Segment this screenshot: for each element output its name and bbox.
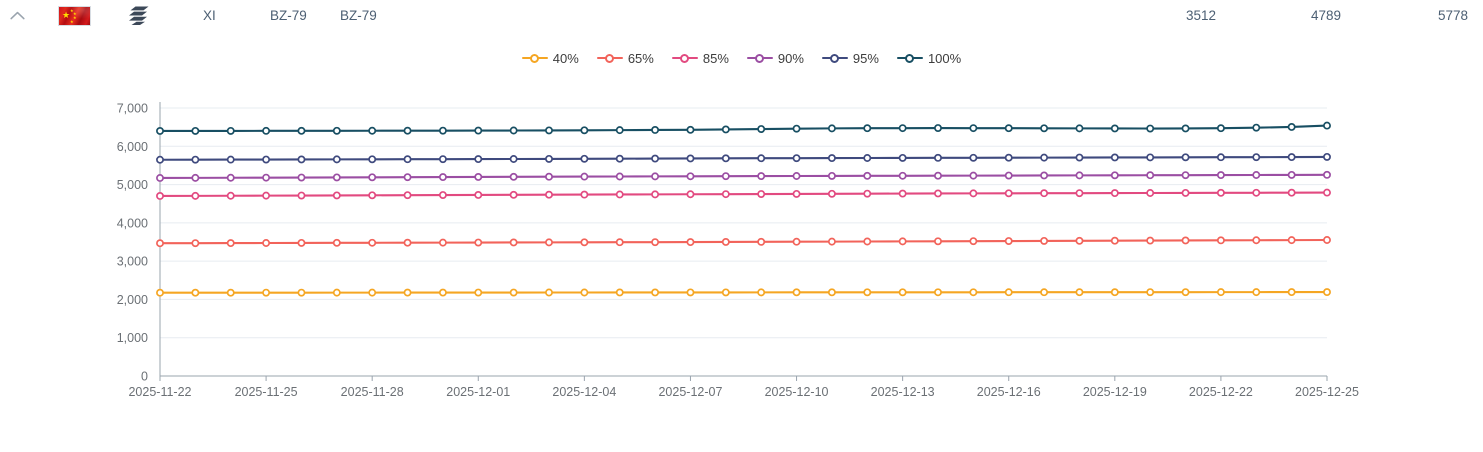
legend-label: 100% (928, 51, 961, 66)
data-point[interactable] (1324, 123, 1330, 129)
data-point[interactable] (369, 192, 375, 198)
y-axis-tick-label: 5,000 (117, 178, 148, 192)
data-point[interactable] (1218, 237, 1224, 243)
data-point[interactable] (228, 157, 234, 163)
data-point[interactable] (298, 156, 304, 162)
data-point[interactable] (298, 290, 304, 296)
data-point[interactable] (192, 175, 198, 181)
data-point[interactable] (723, 239, 729, 245)
data-point[interactable] (1253, 237, 1259, 243)
data-point[interactable] (1112, 154, 1118, 160)
data-point[interactable] (687, 155, 693, 161)
data-point[interactable] (1147, 237, 1153, 243)
data-point[interactable] (652, 173, 658, 179)
data-point[interactable] (1147, 125, 1153, 131)
data-point[interactable] (1182, 289, 1188, 295)
data-point[interactable] (864, 289, 870, 295)
data-point[interactable] (192, 157, 198, 163)
data-point[interactable] (793, 239, 799, 245)
data-point[interactable] (334, 240, 340, 246)
data-point[interactable] (1182, 237, 1188, 243)
slanted-bars-logo (128, 5, 150, 26)
chart-screen: ★★★ ★★ XI BZ-79 BZ-79 3512 4789 5778 40%… (0, 0, 1483, 452)
data-point[interactable] (970, 289, 976, 295)
data-point[interactable] (546, 289, 552, 295)
data-point[interactable] (228, 290, 234, 296)
data-point[interactable] (935, 190, 941, 196)
data-point[interactable] (404, 240, 410, 246)
data-point[interactable] (723, 126, 729, 132)
data-point[interactable] (793, 126, 799, 132)
x-axis-tick-label: 2025-12-07 (658, 385, 722, 399)
data-point[interactable] (192, 240, 198, 246)
series-40pct (157, 289, 1330, 296)
legend-item-90pct[interactable]: 90% (747, 51, 804, 66)
data-point[interactable] (1289, 172, 1295, 178)
data-point[interactable] (1324, 172, 1330, 178)
data-point[interactable] (157, 193, 163, 199)
series-65pct (157, 237, 1330, 246)
data-point[interactable] (581, 239, 587, 245)
data-point[interactable] (1253, 125, 1259, 131)
data-point[interactable] (652, 289, 658, 295)
data-point[interactable] (1253, 289, 1259, 295)
data-point[interactable] (298, 240, 304, 246)
data-point[interactable] (900, 190, 906, 196)
data-point[interactable] (192, 193, 198, 199)
data-point[interactable] (723, 173, 729, 179)
data-point[interactable] (263, 240, 269, 246)
data-point[interactable] (617, 173, 623, 179)
data-point[interactable] (369, 128, 375, 134)
data-point[interactable] (617, 191, 623, 197)
data-point[interactable] (1324, 289, 1330, 295)
data-point[interactable] (1147, 172, 1153, 178)
data-point[interactable] (1112, 172, 1118, 178)
data-point[interactable] (687, 239, 693, 245)
legend-item-85pct[interactable]: 85% (672, 51, 729, 66)
data-point[interactable] (864, 191, 870, 197)
data-point[interactable] (1218, 172, 1224, 178)
data-point[interactable] (1182, 154, 1188, 160)
legend-label: 40% (553, 51, 579, 66)
data-point[interactable] (440, 128, 446, 134)
data-point[interactable] (1182, 190, 1188, 196)
data-point[interactable] (475, 192, 481, 198)
label-xi: XI (203, 0, 216, 30)
data-point[interactable] (829, 173, 835, 179)
data-point[interactable] (793, 155, 799, 161)
data-point[interactable] (829, 289, 835, 295)
data-point[interactable] (334, 290, 340, 296)
data-point[interactable] (1041, 125, 1047, 131)
data-point[interactable] (440, 156, 446, 162)
x-axis-tick-label: 2025-12-22 (1189, 385, 1253, 399)
data-point[interactable] (758, 173, 764, 179)
legend-swatch-icon (522, 51, 548, 65)
data-point[interactable] (1041, 155, 1047, 161)
value-3512: 3512 (1186, 0, 1216, 30)
data-point[interactable] (511, 127, 517, 133)
data-point[interactable] (440, 192, 446, 198)
data-point[interactable] (935, 125, 941, 131)
data-point[interactable] (1289, 237, 1295, 243)
chart-legend: 40%65%85%90%95%100% (0, 48, 1483, 68)
data-point[interactable] (829, 125, 835, 131)
data-point[interactable] (617, 239, 623, 245)
legend-label: 90% (778, 51, 804, 66)
x-axis-tick-label: 2025-11-22 (128, 385, 191, 399)
data-point[interactable] (1006, 289, 1012, 295)
top-bar: ★★★ ★★ XI BZ-79 BZ-79 3512 4789 5778 (0, 0, 1483, 30)
data-point[interactable] (228, 175, 234, 181)
data-point[interactable] (758, 239, 764, 245)
data-point[interactable] (1112, 289, 1118, 295)
china-flag-icon: ★★★ ★★ (58, 6, 91, 26)
x-axis-tick-label: 2025-12-10 (765, 385, 829, 399)
data-point[interactable] (723, 155, 729, 161)
data-point[interactable] (723, 289, 729, 295)
data-point[interactable] (263, 128, 269, 134)
series-95pct (157, 154, 1330, 163)
data-point[interactable] (1253, 172, 1259, 178)
data-point[interactable] (1218, 125, 1224, 131)
data-point[interactable] (1006, 125, 1012, 131)
data-point[interactable] (546, 127, 552, 133)
value-5778: 5778 (1438, 0, 1468, 30)
data-point[interactable] (369, 156, 375, 162)
data-point[interactable] (1112, 238, 1118, 244)
data-point[interactable] (157, 128, 163, 134)
legend-item-65pct[interactable]: 65% (597, 51, 654, 66)
data-point[interactable] (511, 174, 517, 180)
data-point[interactable] (511, 289, 517, 295)
y-axis-tick-label: 4,000 (117, 216, 148, 230)
data-point[interactable] (970, 190, 976, 196)
data-point[interactable] (1182, 125, 1188, 131)
data-point[interactable] (652, 155, 658, 161)
data-point[interactable] (687, 127, 693, 133)
data-point[interactable] (1218, 289, 1224, 295)
data-point[interactable] (864, 155, 870, 161)
data-point[interactable] (228, 193, 234, 199)
data-point[interactable] (900, 289, 906, 295)
data-point[interactable] (1076, 125, 1082, 131)
y-axis-tick-label: 7,000 (117, 102, 148, 116)
x-axis-tick-label: 2025-12-01 (446, 385, 510, 399)
series-85pct (157, 190, 1330, 200)
data-point[interactable] (900, 238, 906, 244)
data-point[interactable] (1147, 154, 1153, 160)
data-point[interactable] (1006, 172, 1012, 178)
data-point[interactable] (1006, 155, 1012, 161)
data-point[interactable] (440, 240, 446, 246)
data-point[interactable] (263, 193, 269, 199)
data-point[interactable] (1006, 190, 1012, 196)
legend-swatch-icon (747, 51, 773, 65)
data-point[interactable] (1289, 154, 1295, 160)
data-point[interactable] (758, 289, 764, 295)
data-point[interactable] (1076, 238, 1082, 244)
legend-item-100pct[interactable]: 100% (897, 51, 961, 66)
data-point[interactable] (687, 289, 693, 295)
data-point[interactable] (617, 127, 623, 133)
legend-swatch-icon (672, 51, 698, 65)
data-point[interactable] (1324, 237, 1330, 243)
legend-item-40pct[interactable]: 40% (522, 51, 579, 66)
data-point[interactable] (404, 156, 410, 162)
chevron-up-icon[interactable] (6, 0, 28, 30)
data-point[interactable] (1324, 190, 1330, 196)
data-point[interactable] (546, 156, 552, 162)
series-100pct (157, 123, 1330, 135)
data-point[interactable] (334, 174, 340, 180)
data-point[interactable] (723, 191, 729, 197)
data-point[interactable] (369, 290, 375, 296)
data-point[interactable] (758, 126, 764, 132)
data-point[interactable] (617, 289, 623, 295)
data-point[interactable] (157, 240, 163, 246)
data-point[interactable] (793, 289, 799, 295)
data-point[interactable] (581, 156, 587, 162)
data-point[interactable] (758, 155, 764, 161)
data-point[interactable] (1289, 190, 1295, 196)
data-point[interactable] (369, 174, 375, 180)
data-point[interactable] (157, 290, 163, 296)
data-point[interactable] (1324, 154, 1330, 160)
data-point[interactable] (404, 192, 410, 198)
data-point[interactable] (1006, 238, 1012, 244)
data-point[interactable] (758, 191, 764, 197)
data-point[interactable] (157, 157, 163, 163)
data-point[interactable] (970, 173, 976, 179)
legend-swatch-icon (897, 51, 923, 65)
y-axis-tick-label: 0 (141, 370, 148, 384)
label-bz-79-2: BZ-79 (340, 0, 377, 30)
data-point[interactable] (334, 128, 340, 134)
data-point[interactable] (404, 128, 410, 134)
data-point[interactable] (475, 289, 481, 295)
data-point[interactable] (1253, 154, 1259, 160)
data-point[interactable] (404, 174, 410, 180)
data-point[interactable] (900, 155, 906, 161)
data-point[interactable] (687, 173, 693, 179)
data-point[interactable] (475, 127, 481, 133)
data-point[interactable] (1218, 154, 1224, 160)
data-point[interactable] (546, 239, 552, 245)
data-point[interactable] (511, 239, 517, 245)
data-point[interactable] (1253, 190, 1259, 196)
data-point[interactable] (935, 238, 941, 244)
legend-item-95pct[interactable]: 95% (822, 51, 879, 66)
data-point[interactable] (581, 174, 587, 180)
data-point[interactable] (617, 156, 623, 162)
data-point[interactable] (1147, 289, 1153, 295)
series-90pct (157, 172, 1330, 181)
legend-label: 65% (628, 51, 654, 66)
data-point[interactable] (935, 155, 941, 161)
data-point[interactable] (864, 125, 870, 131)
data-point[interactable] (334, 192, 340, 198)
value-4789: 4789 (1311, 0, 1341, 30)
data-point[interactable] (404, 289, 410, 295)
data-point[interactable] (546, 192, 552, 198)
data-point[interactable] (1218, 190, 1224, 196)
data-point[interactable] (793, 191, 799, 197)
data-point[interactable] (1041, 190, 1047, 196)
data-point[interactable] (864, 173, 870, 179)
data-point[interactable] (793, 173, 799, 179)
data-point[interactable] (298, 174, 304, 180)
data-point[interactable] (1076, 154, 1082, 160)
data-point[interactable] (652, 191, 658, 197)
data-point[interactable] (970, 125, 976, 131)
data-point[interactable] (1041, 238, 1047, 244)
data-point[interactable] (228, 240, 234, 246)
data-point[interactable] (970, 238, 976, 244)
data-point[interactable] (263, 290, 269, 296)
label-bz-79-1: BZ-79 (270, 0, 307, 30)
data-point[interactable] (263, 175, 269, 181)
data-point[interactable] (298, 128, 304, 134)
line-chart: 01,0002,0003,0004,0005,0006,0007,0002025… (0, 80, 1483, 400)
data-point[interactable] (1289, 124, 1295, 130)
data-point[interactable] (511, 156, 517, 162)
data-point[interactable] (1147, 190, 1153, 196)
data-point[interactable] (1182, 172, 1188, 178)
data-point[interactable] (228, 128, 234, 134)
data-point[interactable] (900, 125, 906, 131)
y-axis-tick-label: 6,000 (117, 140, 148, 154)
legend-label: 95% (853, 51, 879, 66)
data-point[interactable] (369, 240, 375, 246)
data-point[interactable] (581, 289, 587, 295)
data-point[interactable] (1076, 190, 1082, 196)
data-point[interactable] (1289, 289, 1295, 295)
data-point[interactable] (829, 239, 835, 245)
data-point[interactable] (935, 173, 941, 179)
x-axis-tick-label: 2025-12-25 (1295, 385, 1359, 399)
data-point[interactable] (935, 289, 941, 295)
x-axis-tick-label: 2025-12-16 (977, 385, 1041, 399)
y-axis-tick-label: 2,000 (117, 293, 148, 307)
data-point[interactable] (475, 174, 481, 180)
x-axis-tick-label: 2025-12-04 (552, 385, 616, 399)
data-point[interactable] (970, 155, 976, 161)
data-point[interactable] (1076, 289, 1082, 295)
data-point[interactable] (581, 192, 587, 198)
chart-plot-area: 01,0002,0003,0004,0005,0006,0007,0002025… (0, 80, 1483, 400)
x-axis-tick-label: 2025-12-13 (871, 385, 935, 399)
data-point[interactable] (157, 175, 163, 181)
data-point[interactable] (652, 239, 658, 245)
data-point[interactable] (440, 289, 446, 295)
y-axis-tick-label: 1,000 (117, 331, 148, 345)
data-point[interactable] (652, 127, 658, 133)
legend-label: 85% (703, 51, 729, 66)
data-point[interactable] (829, 155, 835, 161)
data-point[interactable] (192, 290, 198, 296)
legend-swatch-icon (822, 51, 848, 65)
data-point[interactable] (1041, 172, 1047, 178)
data-point[interactable] (192, 128, 198, 134)
data-point[interactable] (1076, 172, 1082, 178)
data-point[interactable] (511, 192, 517, 198)
data-point[interactable] (475, 156, 481, 162)
x-axis-tick-label: 2025-12-19 (1083, 385, 1147, 399)
data-point[interactable] (1041, 289, 1047, 295)
data-point[interactable] (1112, 190, 1118, 196)
data-point[interactable] (687, 191, 693, 197)
legend-swatch-icon (597, 51, 623, 65)
data-point[interactable] (1112, 125, 1118, 131)
y-axis-tick-label: 3,000 (117, 255, 148, 269)
x-axis-tick-label: 2025-11-25 (235, 385, 298, 399)
data-point[interactable] (546, 174, 552, 180)
data-point[interactable] (334, 156, 340, 162)
data-point[interactable] (440, 174, 446, 180)
data-point[interactable] (263, 156, 269, 162)
x-axis-tick-label: 2025-11-28 (341, 385, 404, 399)
data-point[interactable] (864, 238, 870, 244)
data-point[interactable] (475, 239, 481, 245)
data-point[interactable] (298, 192, 304, 198)
data-point[interactable] (900, 173, 906, 179)
data-point[interactable] (829, 191, 835, 197)
data-point[interactable] (581, 127, 587, 133)
